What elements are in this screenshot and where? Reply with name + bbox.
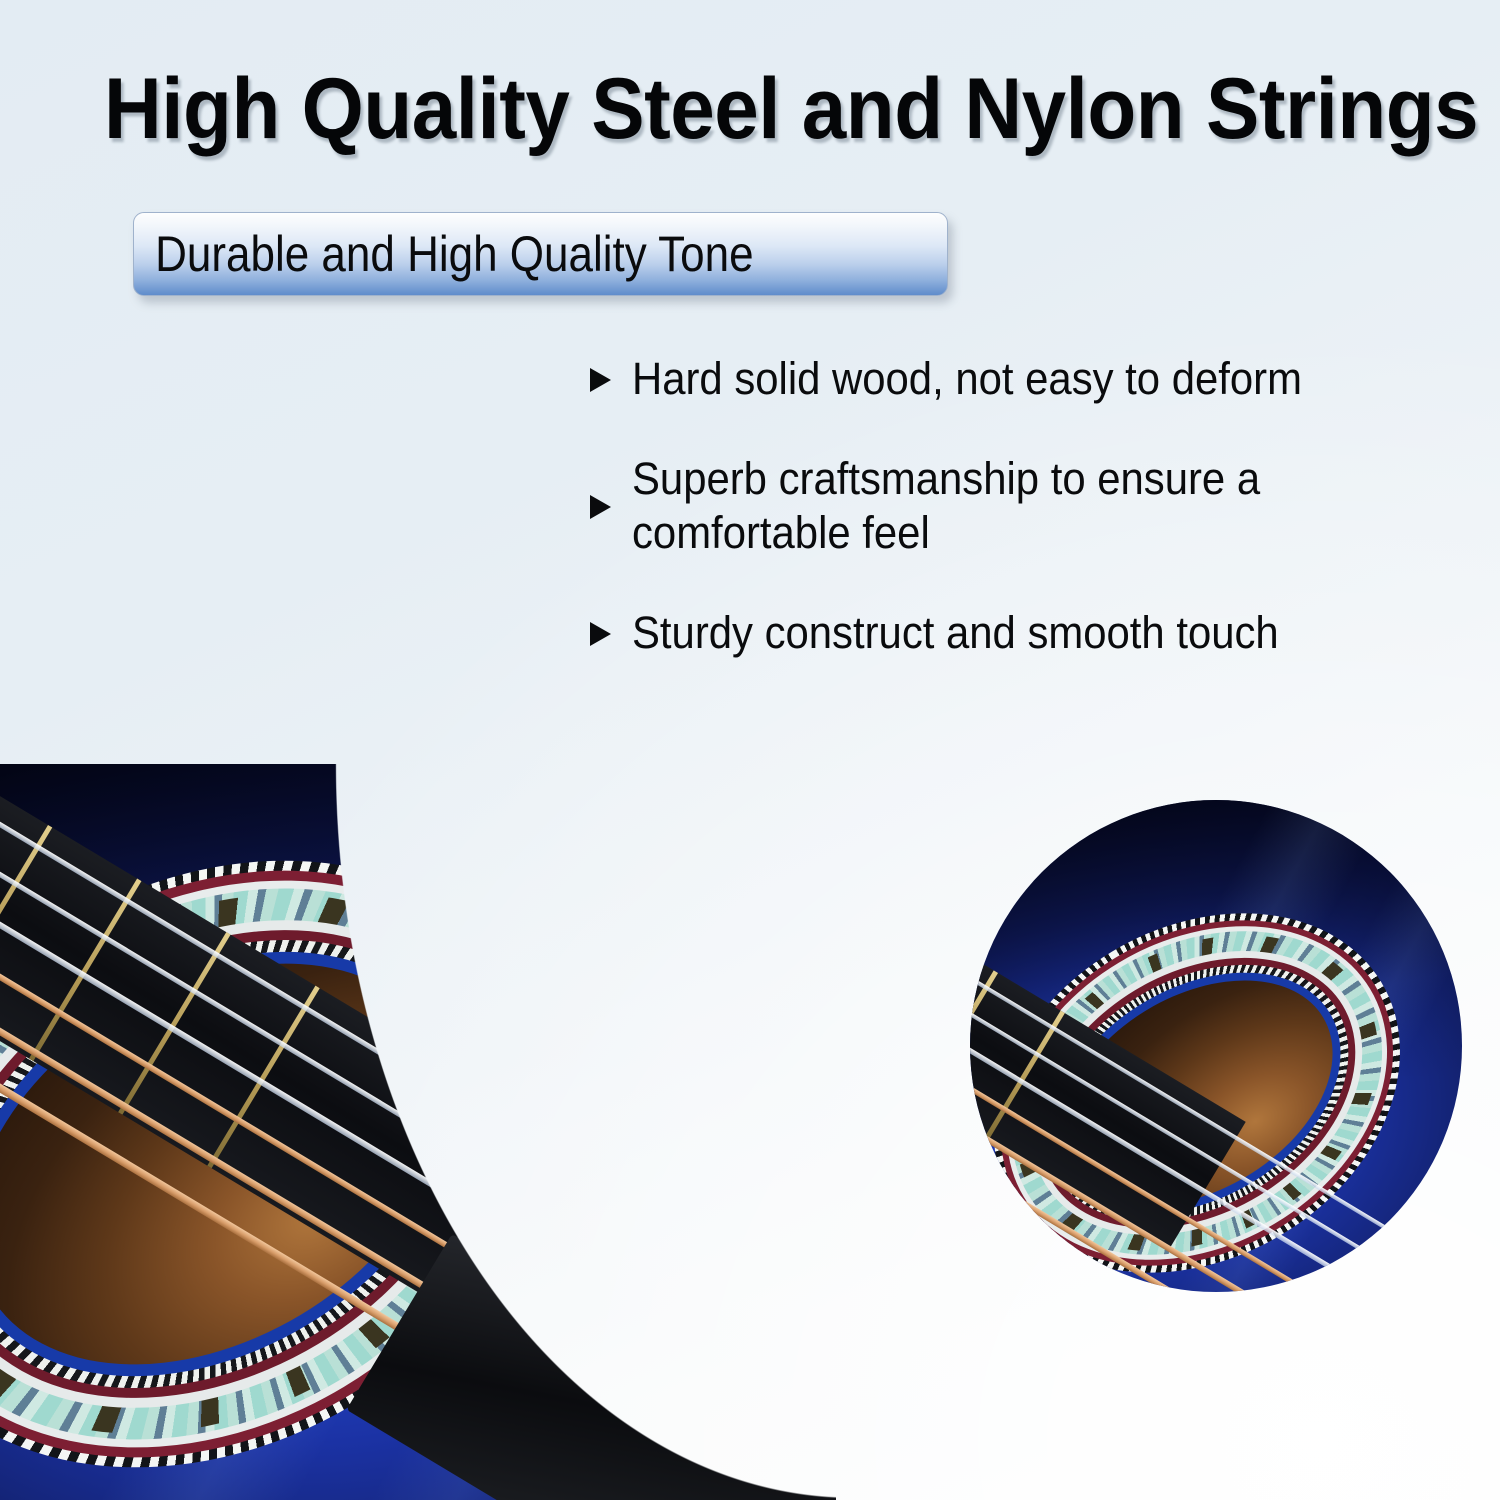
guitar-scene-main	[0, 764, 836, 1500]
list-item: Sturdy construct and smooth touch	[588, 606, 1468, 660]
triangle-right-icon	[588, 618, 612, 648]
list-item: Hard solid wood, not easy to deform	[588, 352, 1468, 406]
main-guitar-photo	[0, 764, 836, 1500]
feature-list: Hard solid wood, not easy to deform Supe…	[588, 352, 1468, 660]
list-item: Superb craftsmanship to ensure a comfort…	[588, 452, 1468, 560]
bridge-dot-inlay	[618, 1350, 658, 1384]
subtitle-badge: Durable and High Quality Tone	[133, 212, 948, 296]
page-title: High Quality Steel and Nylon Strings	[104, 66, 1341, 152]
feature-text: Superb craftsmanship to ensure a comfort…	[632, 452, 1409, 560]
fret	[207, 986, 319, 1169]
guitar-scene-inset	[970, 800, 1462, 1292]
inset-guitar-photo	[970, 800, 1462, 1292]
fret	[118, 932, 230, 1115]
feature-text: Hard solid wood, not easy to deform	[632, 352, 1409, 406]
fret	[29, 879, 141, 1062]
feature-text: Sturdy construct and smooth touch	[632, 606, 1409, 660]
product-feature-poster: High Quality Steel and Nylon Strings Dur…	[0, 0, 1500, 1500]
triangle-right-icon	[588, 491, 612, 521]
subtitle-badge-label: Durable and High Quality Tone	[134, 229, 754, 279]
triangle-right-icon	[588, 364, 612, 394]
